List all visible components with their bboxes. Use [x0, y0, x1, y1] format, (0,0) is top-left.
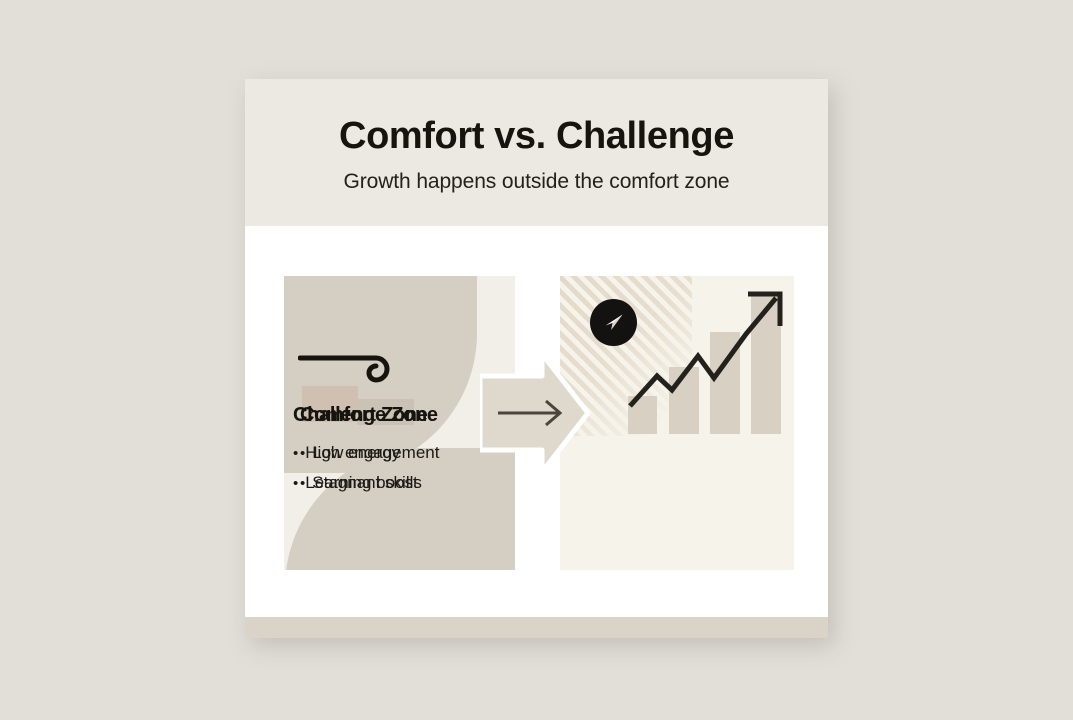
bullet-dot-icon: • — [293, 476, 298, 491]
sofa-scroll-arm-icon — [298, 348, 408, 394]
challenge-zone-panel[interactable] — [560, 276, 794, 570]
page-title: Comfort vs. Challenge — [339, 117, 734, 157]
challenge-zone-bullet-list: • High engagement • Learning boost — [293, 438, 439, 499]
list-item: • Learning boost — [293, 468, 439, 498]
transition-arrow — [480, 348, 590, 478]
challenge-bullet-2: Learning boost — [305, 468, 417, 498]
card-footer-strip — [245, 617, 828, 638]
card-header: Comfort vs. Challenge Growth happens out… — [245, 79, 828, 226]
infographic-card: Comfort vs. Challenge Growth happens out… — [245, 79, 828, 638]
page-subtitle: Growth happens outside the comfort zone — [344, 170, 730, 194]
card-body: Comfort Zone • Low energy • Stagnant ski… — [245, 226, 828, 617]
challenge-zone-title: Challenge Zone — [293, 404, 439, 427]
list-item: • High engagement — [293, 438, 439, 468]
growth-bar-chart — [624, 284, 794, 434]
challenge-bullet-1: High engagement — [305, 438, 439, 468]
challenge-zone-label-block: Challenge Zone • High engagement • Learn… — [293, 404, 439, 499]
bullet-dot-icon: • — [293, 446, 298, 461]
